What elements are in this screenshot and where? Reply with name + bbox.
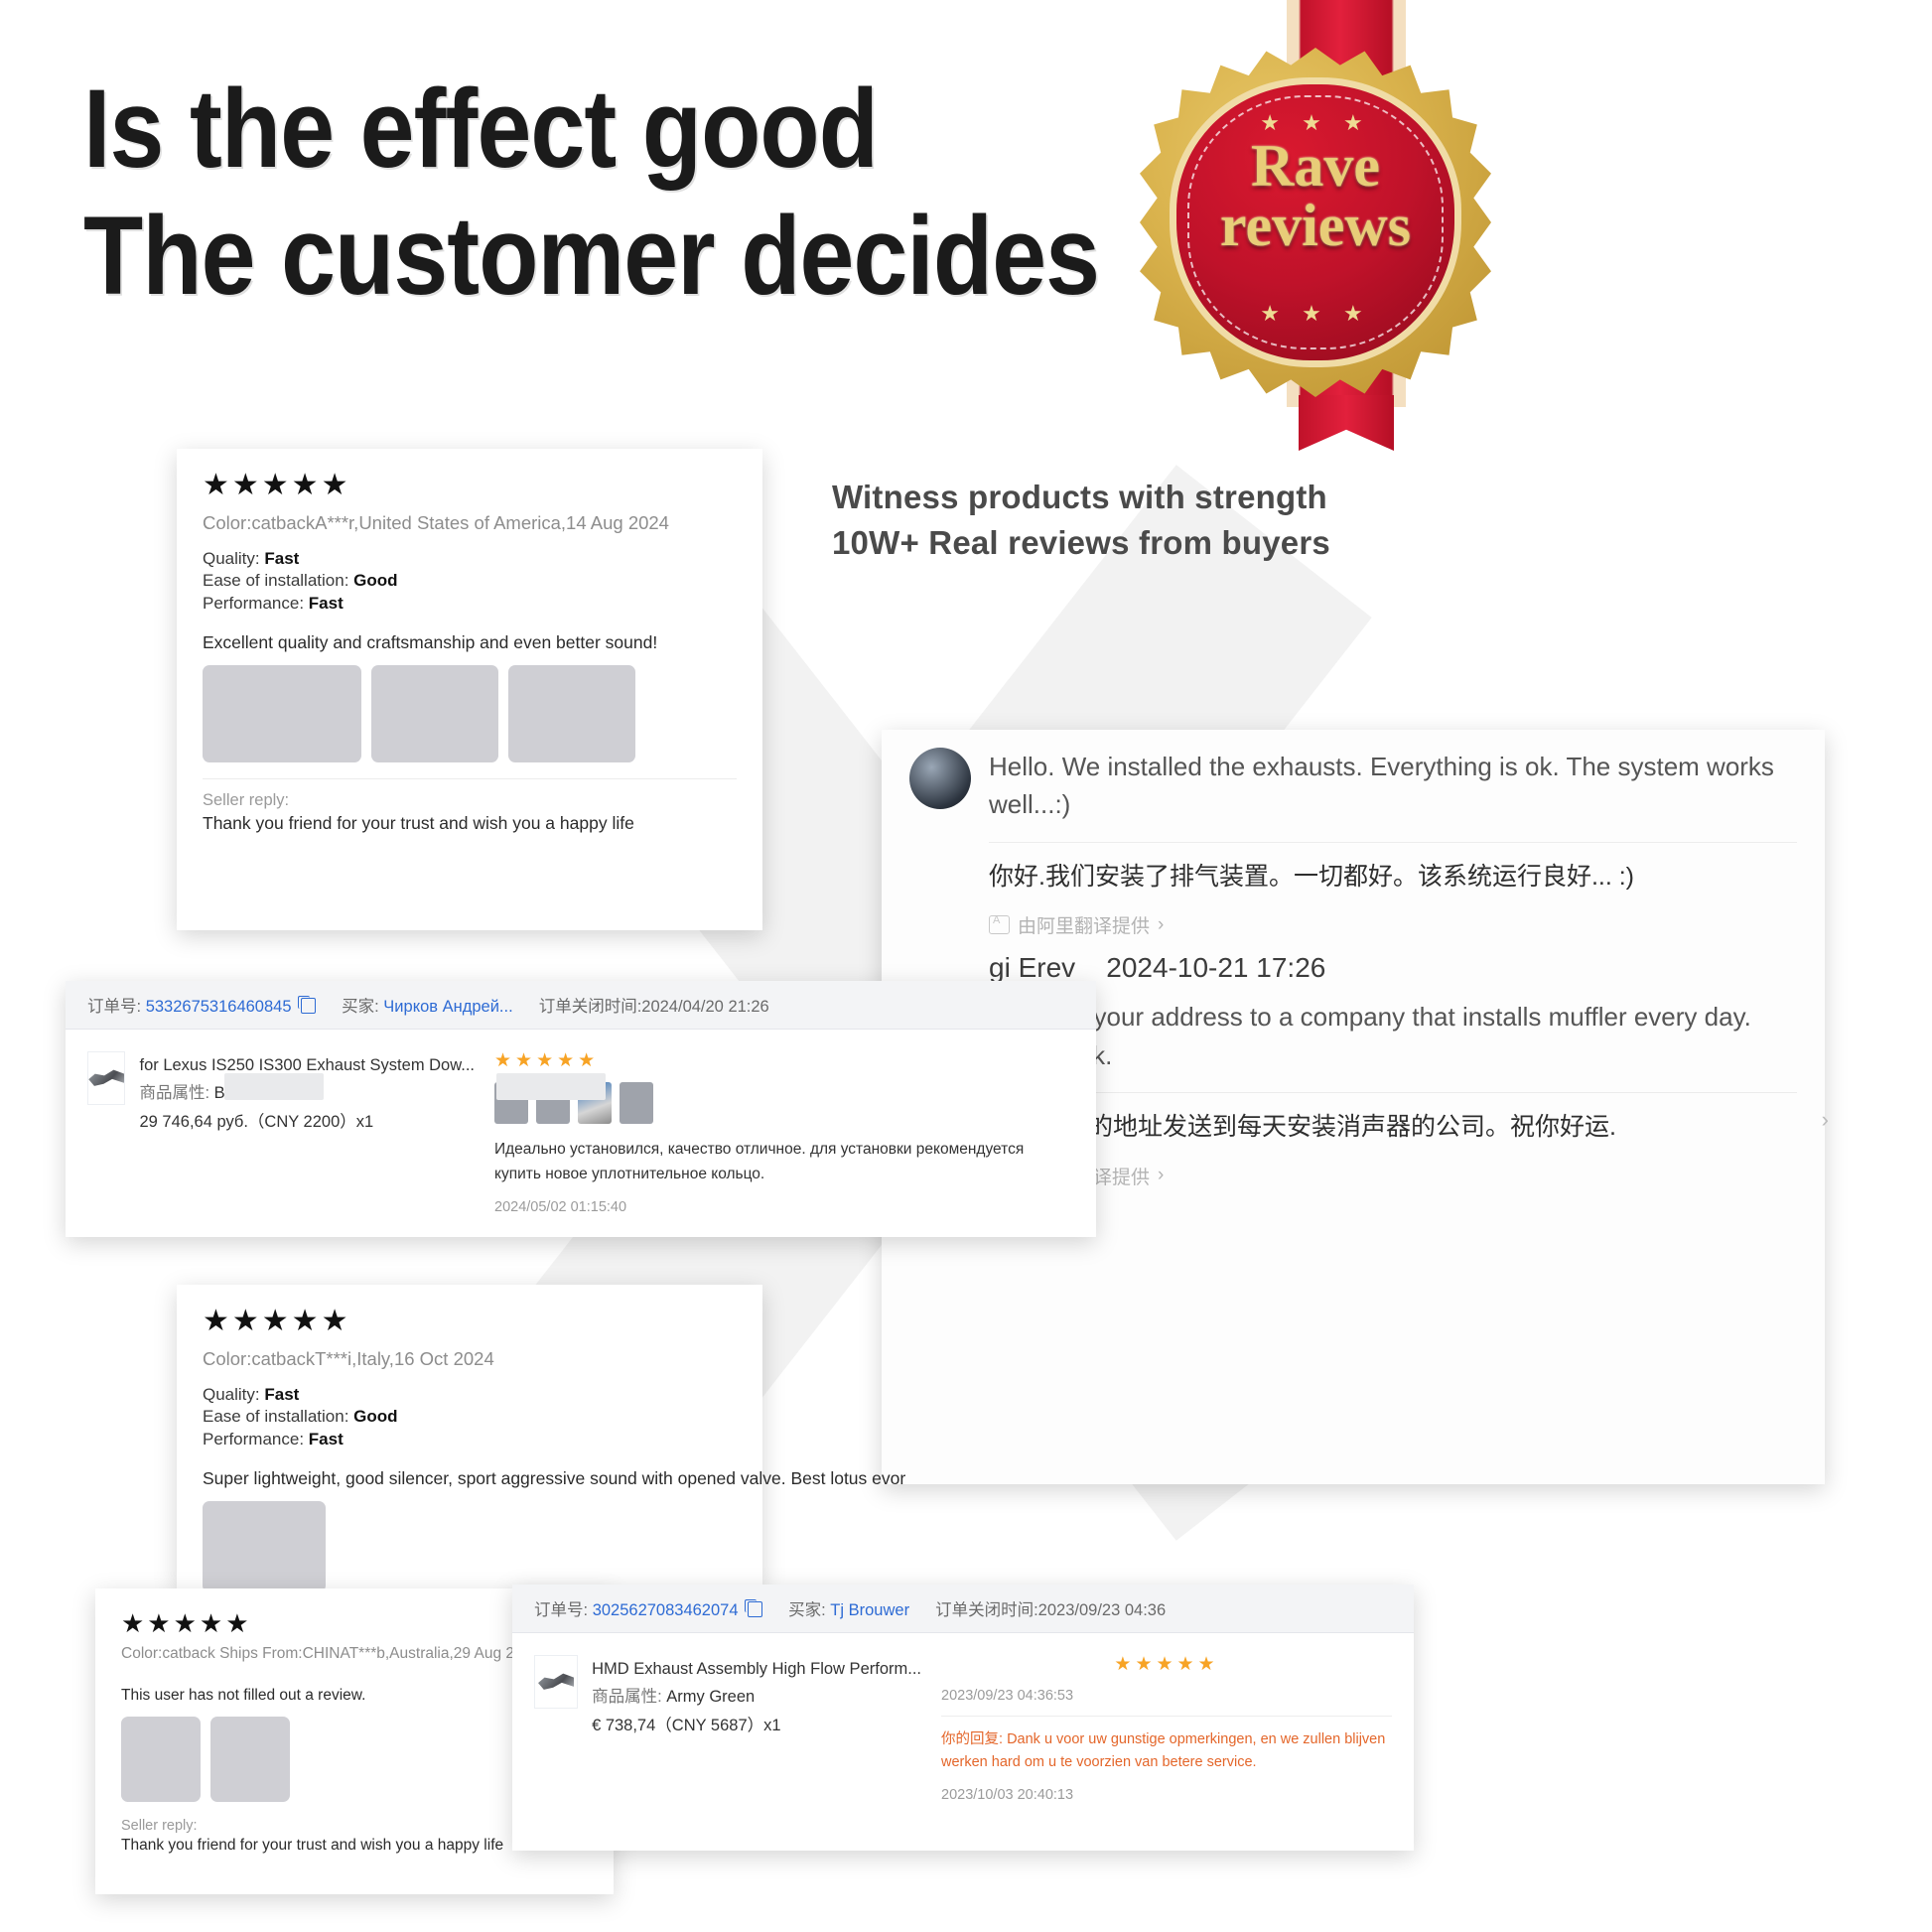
divider: [989, 1092, 1797, 1093]
order-card-nl: 订单号: 3025627083462074 买家: Tj Brouwer 订单关…: [512, 1585, 1414, 1851]
seller-reply-text: Thank you friend for your trust and wish…: [203, 813, 737, 834]
buyer-name[interactable]: Чирков Андрей...: [383, 998, 512, 1016]
attribute-value: Fast: [309, 594, 344, 613]
review-photo[interactable]: [203, 665, 361, 762]
seal-line-1: Rave: [1176, 136, 1454, 196]
closed-time-value: 2024/04/20 21:26: [641, 998, 768, 1016]
review-photos: [203, 1501, 737, 1592]
review-text: Идеально установился, качество отличное.…: [494, 1138, 1074, 1187]
chevron-right-icon: ›: [1158, 1165, 1164, 1186]
product-attr-value: Army Green: [666, 1688, 755, 1706]
page-title: Is the effect good The customer decides: [83, 66, 1099, 319]
review-meta: Color:catbackA***r,United States of Amer…: [203, 512, 737, 534]
review-photo[interactable]: [620, 1082, 653, 1124]
poster-canvas: Is the effect good The customer decides …: [0, 0, 1932, 1932]
buyer-label: 买家:: [788, 1601, 826, 1619]
review-photo[interactable]: [210, 1717, 290, 1802]
chat-message-zh: 我已将您的地址发送到每天安装消声器的公司。祝你好运.: [989, 1109, 1797, 1147]
attribute-row: Ease of installation: Good: [203, 570, 737, 592]
headline-line-2: The customer decides: [83, 193, 1099, 320]
review-time: 2023/09/23 04:36:53: [941, 1688, 1392, 1704]
product-attr-label: 商品属性:: [139, 1084, 209, 1102]
seal-gold-ring: ★ ★ ★ Rave reviews ★ ★ ★: [1140, 48, 1491, 397]
chat-sender-name: gi Erev: [989, 952, 1075, 983]
attribute-value: Fast: [264, 1385, 299, 1404]
avatar: [909, 748, 971, 809]
attribute-label: Ease of installation:: [203, 571, 348, 590]
rave-reviews-badge: ★ ★ ★ Rave reviews ★ ★ ★: [1128, 0, 1545, 457]
attribute-label: Performance:: [203, 1430, 304, 1449]
copy-icon[interactable]: [748, 1601, 762, 1617]
buyer-label: 买家:: [342, 998, 379, 1016]
star-rating: ★★★★★: [941, 1655, 1392, 1674]
order-no-value[interactable]: 3025627083462074: [593, 1601, 739, 1619]
reply-time: 2023/10/03 20:40:13: [941, 1787, 1392, 1803]
order-body: for Lexus IS250 IS300 Exhaust System Dow…: [66, 1030, 1096, 1233]
review-photo[interactable]: [121, 1717, 201, 1802]
chat-message-en: Hello. We installed the exhausts. Everyt…: [989, 748, 1797, 824]
star-rating: ★★★★★: [203, 1307, 737, 1336]
review-card-usa: ★★★★★ Color:catbackA***r,United States o…: [177, 449, 762, 930]
product-thumbnail[interactable]: [534, 1655, 578, 1709]
translation-credit-label: 由阿里翻译提供: [1018, 911, 1150, 938]
attribute-value: Good: [353, 1407, 397, 1426]
attribute-label: Ease of installation:: [203, 1407, 348, 1426]
chat-message-1: Hello. We installed the exhausts. Everyt…: [882, 730, 1825, 938]
attribute-label: Performance:: [203, 594, 304, 613]
review-meta: Color:catbackT***i,Italy,16 Oct 2024: [203, 1348, 737, 1370]
order-card-ru: 订单号: 5332675316460845 买家: Чирков Андрей.…: [66, 981, 1096, 1237]
order-no-label: 订单号:: [87, 998, 141, 1016]
chevron-right-icon[interactable]: ›: [1822, 1107, 1829, 1133]
seller-reply-label: Seller reply:: [203, 791, 737, 810]
attribute-value: Fast: [309, 1430, 344, 1449]
chat-message-zh: 你好.我们安装了排气装置。一切都好。该系统运行良好... :): [989, 859, 1797, 897]
translation-credit[interactable]: 由阿里翻译提供 ›: [989, 911, 1797, 938]
seal-label: Rave reviews: [1176, 136, 1454, 255]
promo-line-1: Witness products with strength: [832, 475, 1330, 520]
buyer-name[interactable]: Tj Brouwer: [830, 1601, 909, 1619]
attribute-value: Good: [353, 571, 397, 590]
seller-reply-label: 你的回复:: [941, 1731, 1003, 1747]
seller-reply-text: Dank u voor uw gunstige opmerkingen, en …: [941, 1731, 1385, 1770]
closed-time-value: 2023/09/23 04:36: [1038, 1601, 1166, 1619]
product-title[interactable]: HMD Exhaust Assembly High Flow Perform..…: [592, 1655, 921, 1683]
order-no-value[interactable]: 5332675316460845: [146, 998, 292, 1016]
order-header: 订单号: 3025627083462074 买家: Tj Brouwer 订单关…: [512, 1585, 1414, 1633]
review-body: Excellent quality and craftsmanship and …: [203, 632, 737, 653]
order-body: HMD Exhaust Assembly High Flow Perform..…: [512, 1633, 1414, 1821]
closed-time-label: 订单关闭时间:: [539, 998, 642, 1016]
divider: [941, 1716, 1392, 1717]
order-no-label: 订单号:: [534, 1601, 588, 1619]
review-card-italy: ★★★★★ Color:catbackT***i,Italy,16 Oct 20…: [177, 1285, 762, 1590]
chat-message-en: ave sent your address to a company that …: [989, 998, 1797, 1074]
product-price: 29 746,64 руб.（CNY 2200）x1: [139, 1108, 475, 1136]
seal-stars-bottom: ★ ★ ★: [1176, 301, 1454, 327]
review-photo[interactable]: [508, 665, 635, 762]
order-product: HMD Exhaust Assembly High Flow Perform..…: [534, 1655, 921, 1803]
review-photos: [203, 665, 737, 762]
chat-timestamp: 2024-10-21 17:26: [1106, 952, 1325, 983]
attribute-row: Ease of installation: Good: [203, 1406, 737, 1428]
promo-line-2: 10W+ Real reviews from buyers: [832, 520, 1330, 566]
translate-icon: [989, 915, 1010, 934]
seller-reply: 你的回复: Dank u voor uw gunstige opmerkinge…: [941, 1728, 1392, 1775]
closed-time-label: 订单关闭时间:: [935, 1601, 1038, 1619]
review-photo[interactable]: [203, 1501, 326, 1592]
attribute-label: Quality:: [203, 1385, 260, 1404]
seal-line-2: reviews: [1176, 196, 1454, 255]
product-price: € 738,74（CNY 5687）x1: [592, 1712, 921, 1739]
divider: [203, 778, 737, 779]
order-header: 订单号: 5332675316460845 买家: Чирков Андрей.…: [66, 981, 1096, 1030]
headline-line-1: Is the effect good: [83, 66, 1099, 193]
attribute-row: Performance: Fast: [203, 593, 737, 615]
promo-text: Witness products with strength 10W+ Real…: [832, 475, 1330, 565]
translation-credit[interactable]: 由阿里翻译提供 ›: [989, 1163, 1797, 1189]
star-rating: ★★★★★: [494, 1051, 1074, 1070]
seal-red-face: ★ ★ ★ Rave reviews ★ ★ ★: [1170, 77, 1461, 367]
review-time: 2024/05/02 01:15:40: [494, 1199, 1074, 1215]
review-attributes: Quality: Fast Ease of installation: Good…: [203, 548, 737, 615]
attribute-row: Quality: Fast: [203, 1384, 737, 1406]
divider: [989, 842, 1797, 843]
attribute-row: Quality: Fast: [203, 548, 737, 570]
review-photo[interactable]: [371, 665, 498, 762]
chevron-right-icon: ›: [1158, 914, 1164, 936]
masked-field: [496, 1073, 606, 1100]
order-review: ★★★★★ 2023/09/23 04:36:53 你的回复: Dank u v…: [941, 1655, 1392, 1803]
attribute-value: Fast: [264, 549, 299, 568]
star-rating: ★★★★★: [203, 471, 737, 500]
product-thumbnail[interactable]: [87, 1051, 125, 1105]
attribute-label: Quality:: [203, 549, 260, 568]
masked-field: [224, 1073, 324, 1100]
review-attributes: Quality: Fast Ease of installation: Good…: [203, 1384, 737, 1450]
attribute-row: Performance: Fast: [203, 1429, 737, 1450]
chat-sender-row: gi Erev 2024-10-21 17:26: [882, 938, 1825, 984]
review-body: Super lightweight, good silencer, sport …: [203, 1468, 737, 1489]
product-attr-label: 商品属性:: [592, 1688, 662, 1706]
copy-icon[interactable]: [301, 998, 316, 1014]
